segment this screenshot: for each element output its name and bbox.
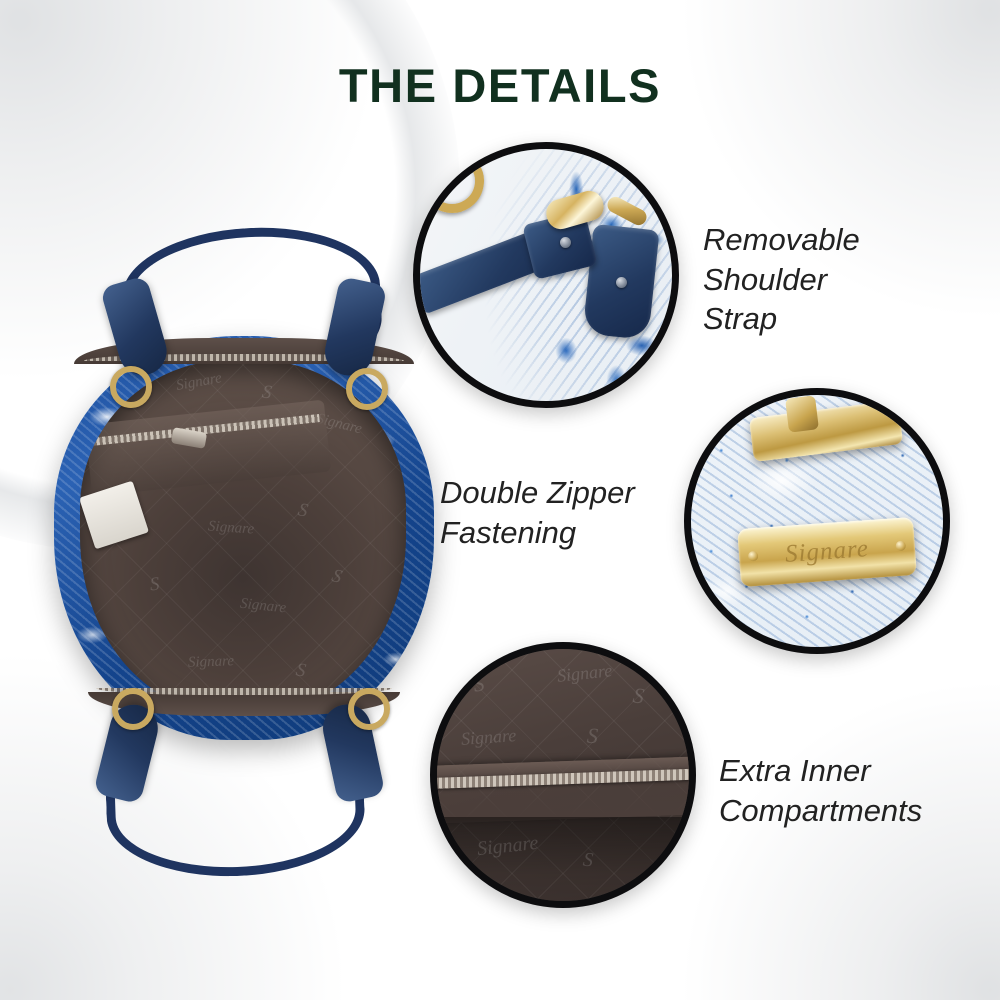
bag-interior-lining: S Signare S Signare S Signare S S Signar… [80,360,406,712]
caption-removable-shoulder-strap: Removable Shoulder Strap [703,220,860,339]
rivet [560,237,571,248]
caption-extra-inner-compartments: Extra Inner Compartments [719,751,922,830]
logo-plate-photo: Signare [691,395,943,647]
plate-screw [748,551,759,562]
lining-mark: Signare [239,596,287,618]
lining-mark: S [261,381,273,404]
d-ring-bottom-left [112,688,154,730]
lining-mark: Signare [460,725,517,750]
brand-logo-text: Signare [784,535,870,569]
inner-compartments-photo: S Signare S Signare S Signare S [437,649,689,901]
brand-logo-plate: Signare [737,517,917,587]
detail-bubble-logo-plate: Signare [684,388,950,654]
lining-mark: S [329,565,344,589]
product-details-graphic: THE DETAILS S Signare S Signare S Signar… [0,0,1000,1000]
rivet [616,277,627,288]
lining-mark: Signare [207,518,254,538]
lining-mark: S [149,574,161,597]
lining-mark: Signare [188,653,235,672]
caption-double-zipper-fastening: Double Zipper Fastening [440,473,635,552]
inner-pocket-shadow [437,817,696,908]
lining-mark: S [294,659,307,682]
detail-bubble-shoulder-strap [413,142,679,408]
d-ring-top-right [346,368,388,410]
shoulder-strap-photo [420,149,672,401]
d-ring-top-left [110,366,152,408]
page-title: THE DETAILS [0,58,1000,113]
inner-pocket-band [430,756,696,824]
d-ring-bottom-right [348,688,390,730]
lining-mark: Signare [175,370,223,395]
lining-mark: S [296,499,310,522]
gold-zipper-pull [785,395,819,432]
plate-screw [895,541,906,552]
lining-mark: S [586,723,599,750]
detail-bubble-inner-compartments: S Signare S Signare S Signare S [430,642,696,908]
